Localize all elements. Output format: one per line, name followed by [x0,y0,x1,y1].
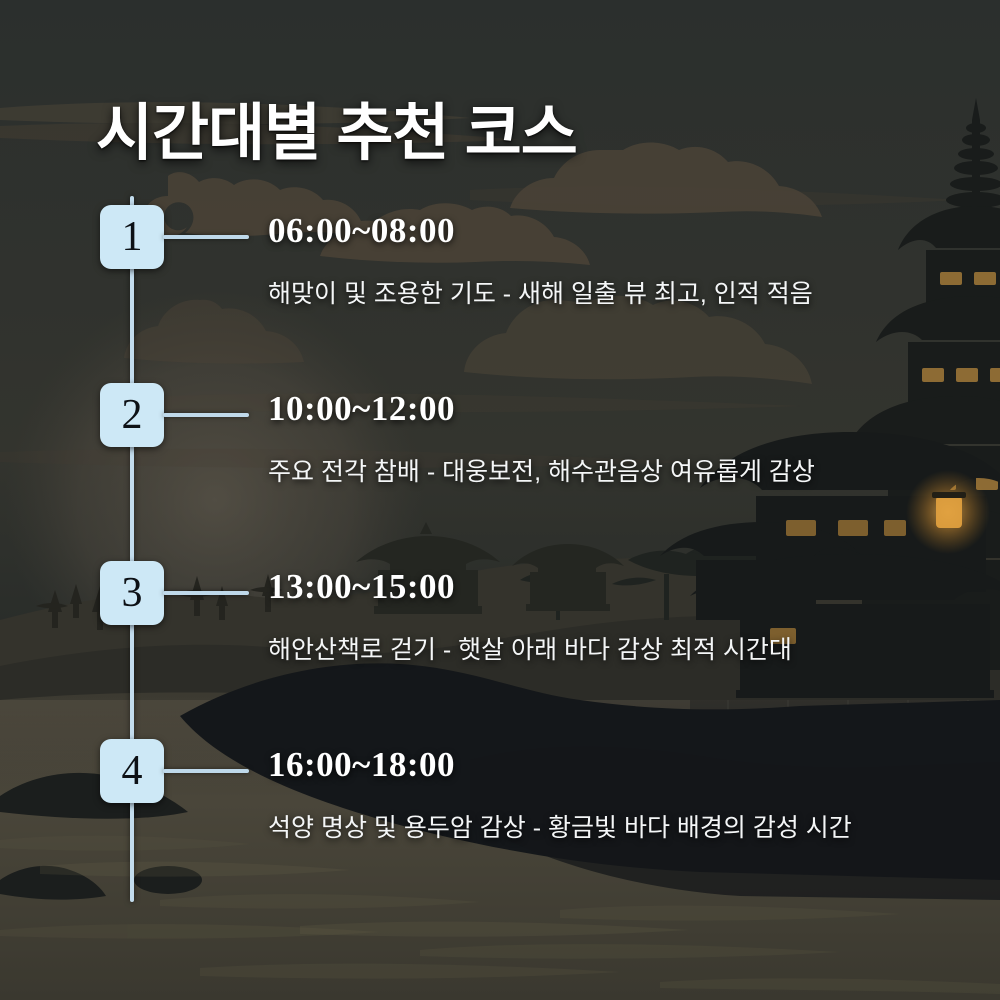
timeline-connector-line [163,769,249,773]
timeline-step-badge: 2 [100,383,164,447]
timeline-time-label: 13:00~15:00 [268,567,455,607]
timeline-step-badge: 4 [100,739,164,803]
timeline-description: 주요 전각 참배 - 대웅보전, 해수관음상 여유롭게 감상 [268,451,928,494]
timeline-list: 1 06:00~08:00 해맞이 및 조용한 기도 - 새해 일출 뷰 최고,… [0,0,1000,1000]
timeline-connector-line [163,413,249,417]
timeline-step-badge: 3 [100,561,164,625]
timeline-time-label: 16:00~18:00 [268,745,455,785]
timeline-description: 해안산책로 걷기 - 햇살 아래 바다 감상 최적 시간대 [268,629,928,672]
timeline-connector-line [163,591,249,595]
time-based-course-card: 시간대별 추천 코스 1 06:00~08:00 해맞이 및 조용한 기도 - … [0,0,1000,1000]
timeline-description: 석양 명상 및 용두암 감상 - 황금빛 바다 배경의 감성 시간 [268,807,928,850]
timeline-step-badge: 1 [100,205,164,269]
timeline-time-label: 10:00~12:00 [268,389,455,429]
timeline-description: 해맞이 및 조용한 기도 - 새해 일출 뷰 최고, 인적 적음 [268,273,928,316]
timeline-connector-line [163,235,249,239]
timeline-time-label: 06:00~08:00 [268,211,455,251]
